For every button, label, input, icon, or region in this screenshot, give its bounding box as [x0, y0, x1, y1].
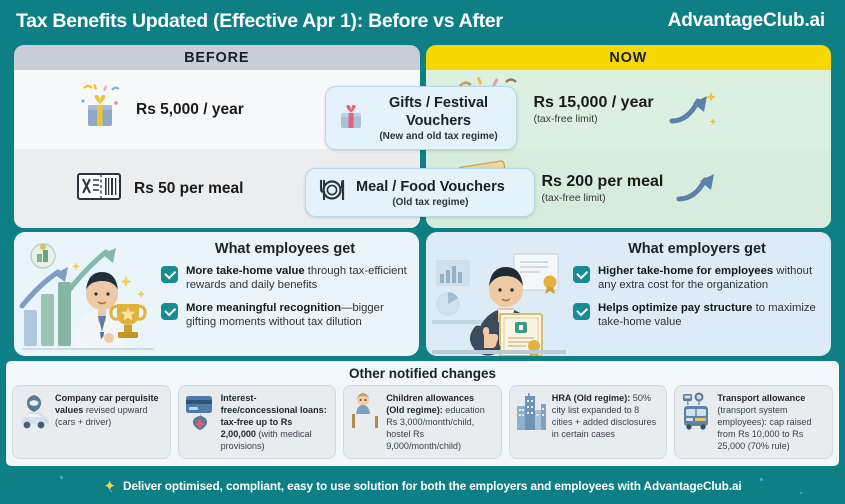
up-arrow-icon: [673, 166, 725, 211]
bus-transport-icon: [680, 392, 712, 432]
sparkle-dot: [800, 492, 802, 494]
employers-panel-title: What employers get: [573, 241, 821, 257]
footer-banner: ✦ Deliver optimised, compliant, easy to …: [0, 468, 845, 504]
other-changes-cards: Company car perquisite values revised up…: [12, 385, 833, 459]
check-icon: [573, 266, 590, 283]
other-changes-title: Other notified changes: [12, 366, 833, 381]
check-icon: [161, 303, 178, 320]
sparkle-dot: [110, 490, 112, 492]
employees-bullet-2-bold: More meaningful recognition: [186, 302, 341, 314]
gift-icon: [336, 101, 366, 136]
benefits-section: What employees get More take-home value …: [14, 232, 831, 356]
company-car-icon: [18, 392, 50, 432]
card-company-car: Company car perquisite values revised up…: [12, 385, 171, 459]
now-gifts-value: Rs 15,000 / year (tax-free limit): [534, 94, 654, 125]
gift-confetti-icon: [74, 81, 126, 138]
city-buildings-icon: [515, 392, 547, 432]
card-children-allowances: Children allowances (Old regime): educat…: [343, 385, 502, 459]
category-pill-meals: Meal / Food Vouchers (Old tax regime): [305, 168, 535, 217]
employer-certificate-illustration: [426, 232, 571, 356]
footer-message: Deliver optimised, compliant, easy to us…: [123, 479, 742, 493]
employees-bullet-2: More meaningful recognition—bigger gifti…: [161, 301, 409, 330]
card-transport-allowance: Transport allowance (transport system em…: [674, 385, 833, 459]
check-icon: [573, 303, 590, 320]
meal-voucher-ticket-icon: [74, 166, 124, 211]
card-loans: + Interest-free/concessional loans: tax-…: [178, 385, 337, 459]
employees-bullet-1: More take-home value through tax-efficie…: [161, 264, 409, 293]
before-gifts-value: Rs 5,000 / year: [136, 101, 244, 119]
before-header-label: BEFORE: [14, 45, 420, 70]
credit-card-medical-icon: +: [184, 392, 216, 432]
child-bed-icon: [349, 392, 381, 432]
employers-bullet-2: Helps optimize pay structure to maximize…: [573, 301, 821, 330]
pill-meals-sub: (Old tax regime): [356, 197, 505, 208]
check-icon: [161, 266, 178, 283]
employers-benefits-panel: What employers get Higher take-home for …: [426, 232, 831, 356]
other-changes-section: Other notified changes Company car perqu…: [6, 361, 839, 466]
employers-bullet-2-bold: Helps optimize pay structure: [598, 302, 752, 314]
category-pill-gifts: Gifts / Festival Vouchers (New and old t…: [325, 86, 517, 150]
now-meals-sub: (tax-free limit): [542, 192, 664, 204]
before-meals-value: Rs 50 per meal: [134, 180, 243, 198]
now-header-label: NOW: [426, 45, 832, 70]
card-hra-bold: HRA (Old regime):: [552, 393, 630, 403]
now-meals-value: Rs 200 per meal (tax-free limit): [542, 173, 664, 204]
page-title: Tax Benefits Updated (Effective Apr 1): …: [16, 10, 503, 33]
employee-trophy-chart-illustration: [14, 232, 159, 356]
employees-benefits-panel: What employees get More take-home value …: [14, 232, 419, 356]
sparkle-dot: [60, 476, 63, 479]
employers-bullet-1-bold: Higher take-home for employees: [598, 265, 773, 277]
up-arrow-icon: [666, 85, 720, 134]
pill-gifts-sub: (New and old tax regime): [374, 131, 503, 142]
employers-bullet-1: Higher take-home for employees without a…: [573, 264, 821, 293]
pill-meals-title: Meal / Food Vouchers: [356, 179, 505, 195]
sparkle-dot: [760, 478, 763, 481]
brand-logo-text: AdvantageClub.ai: [668, 10, 831, 32]
card-transport-bold: Transport allowance: [717, 393, 805, 403]
pill-gifts-title: Gifts / Festival Vouchers: [389, 95, 488, 129]
card-hra: HRA (Old regime): 50% city list expanded…: [509, 385, 668, 459]
now-gifts-sub: (tax-free limit): [534, 113, 654, 125]
employees-bullet-1-bold: More take-home value: [186, 265, 305, 277]
meal-plate-icon: [316, 176, 348, 209]
employees-panel-title: What employees get: [161, 241, 409, 257]
infographic-page: Tax Benefits Updated (Effective Apr 1): …: [0, 0, 845, 504]
card-transport-rest: (transport system employees): cap raised…: [717, 405, 811, 451]
header-bar: Tax Benefits Updated (Effective Apr 1): …: [0, 0, 845, 42]
